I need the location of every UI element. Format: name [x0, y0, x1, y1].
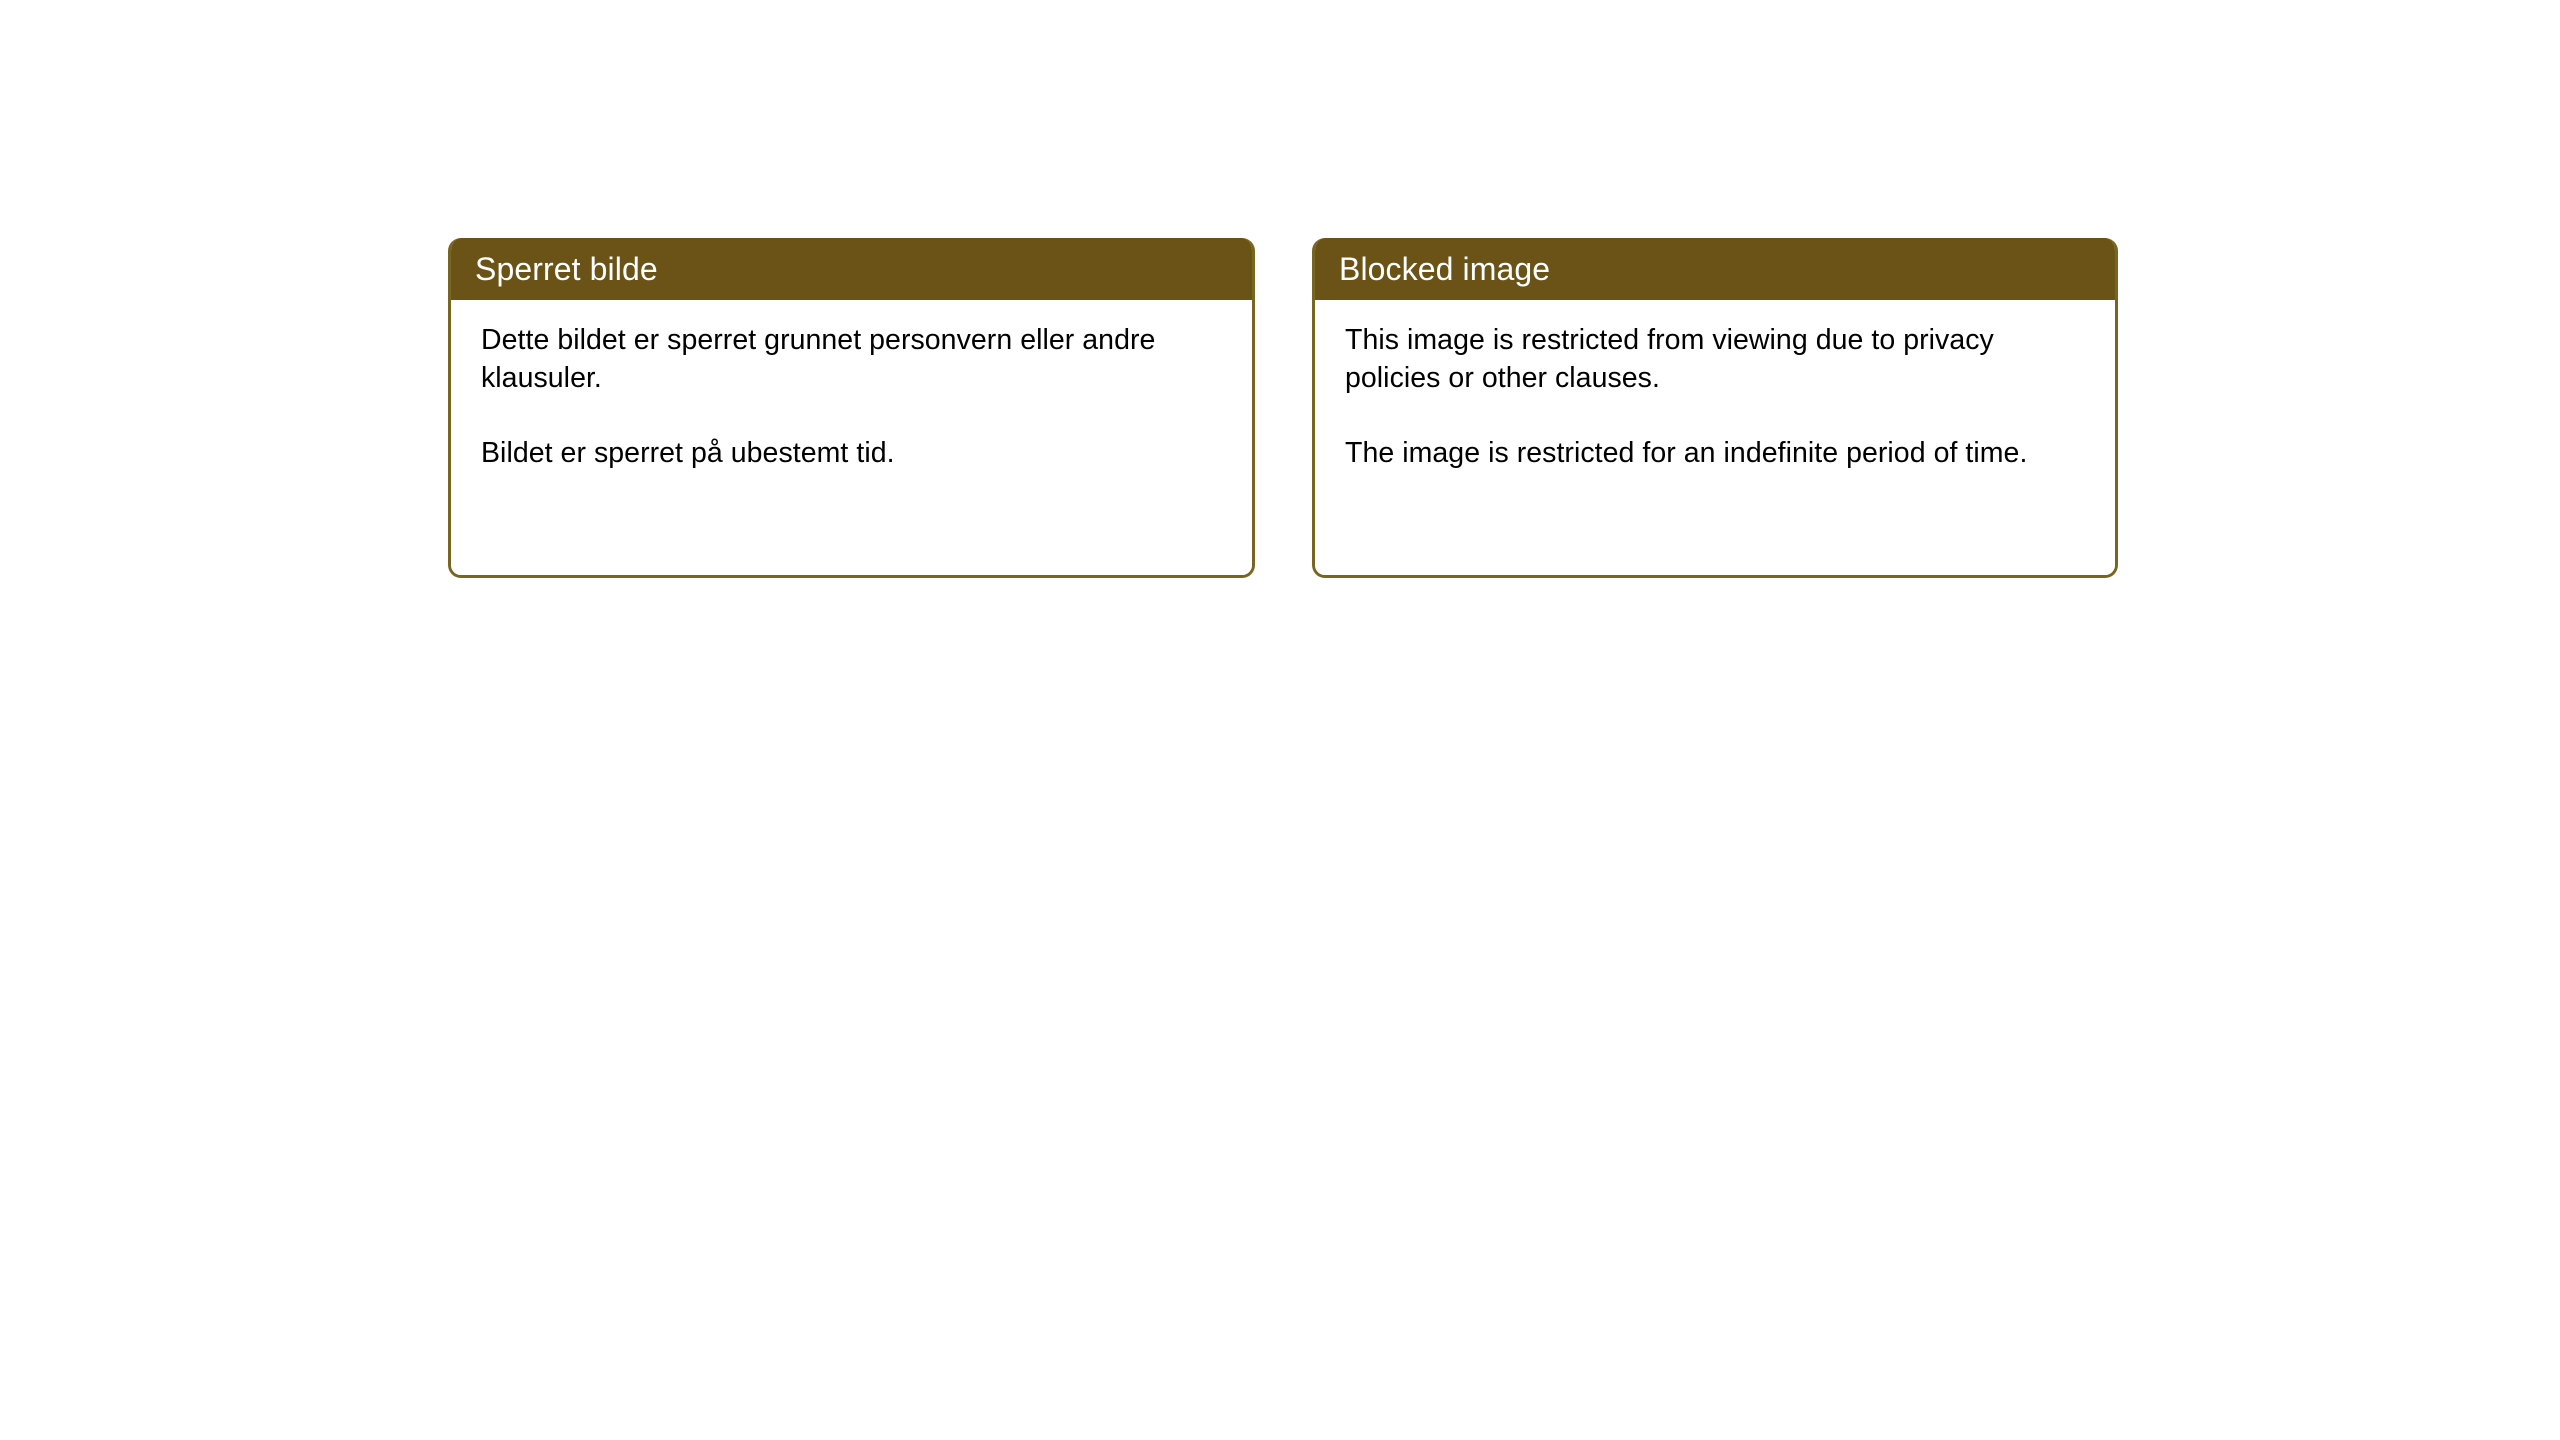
card-body-norwegian: Dette bildet er sperret grunnet personve…	[451, 300, 1252, 575]
page-canvas: Sperret bilde Dette bildet er sperret gr…	[0, 0, 2560, 1440]
blocked-image-notice-card-english: Blocked image This image is restricted f…	[1312, 238, 2118, 578]
card-paragraph-duration-norwegian: Bildet er sperret på ubestemt tid.	[481, 435, 1226, 473]
card-header-english: Blocked image	[1312, 238, 2118, 300]
card-paragraph-reason-norwegian: Dette bildet er sperret grunnet personve…	[481, 322, 1226, 398]
card-title-norwegian: Sperret bilde	[475, 253, 658, 285]
blocked-image-notice-card-norwegian: Sperret bilde Dette bildet er sperret gr…	[448, 238, 1255, 578]
card-header-norwegian: Sperret bilde	[448, 238, 1255, 300]
card-title-english: Blocked image	[1339, 253, 1550, 285]
card-paragraph-reason-english: This image is restricted from viewing du…	[1345, 322, 2089, 398]
card-paragraph-duration-english: The image is restricted for an indefinit…	[1345, 435, 2089, 473]
card-body-english: This image is restricted from viewing du…	[1315, 300, 2115, 575]
